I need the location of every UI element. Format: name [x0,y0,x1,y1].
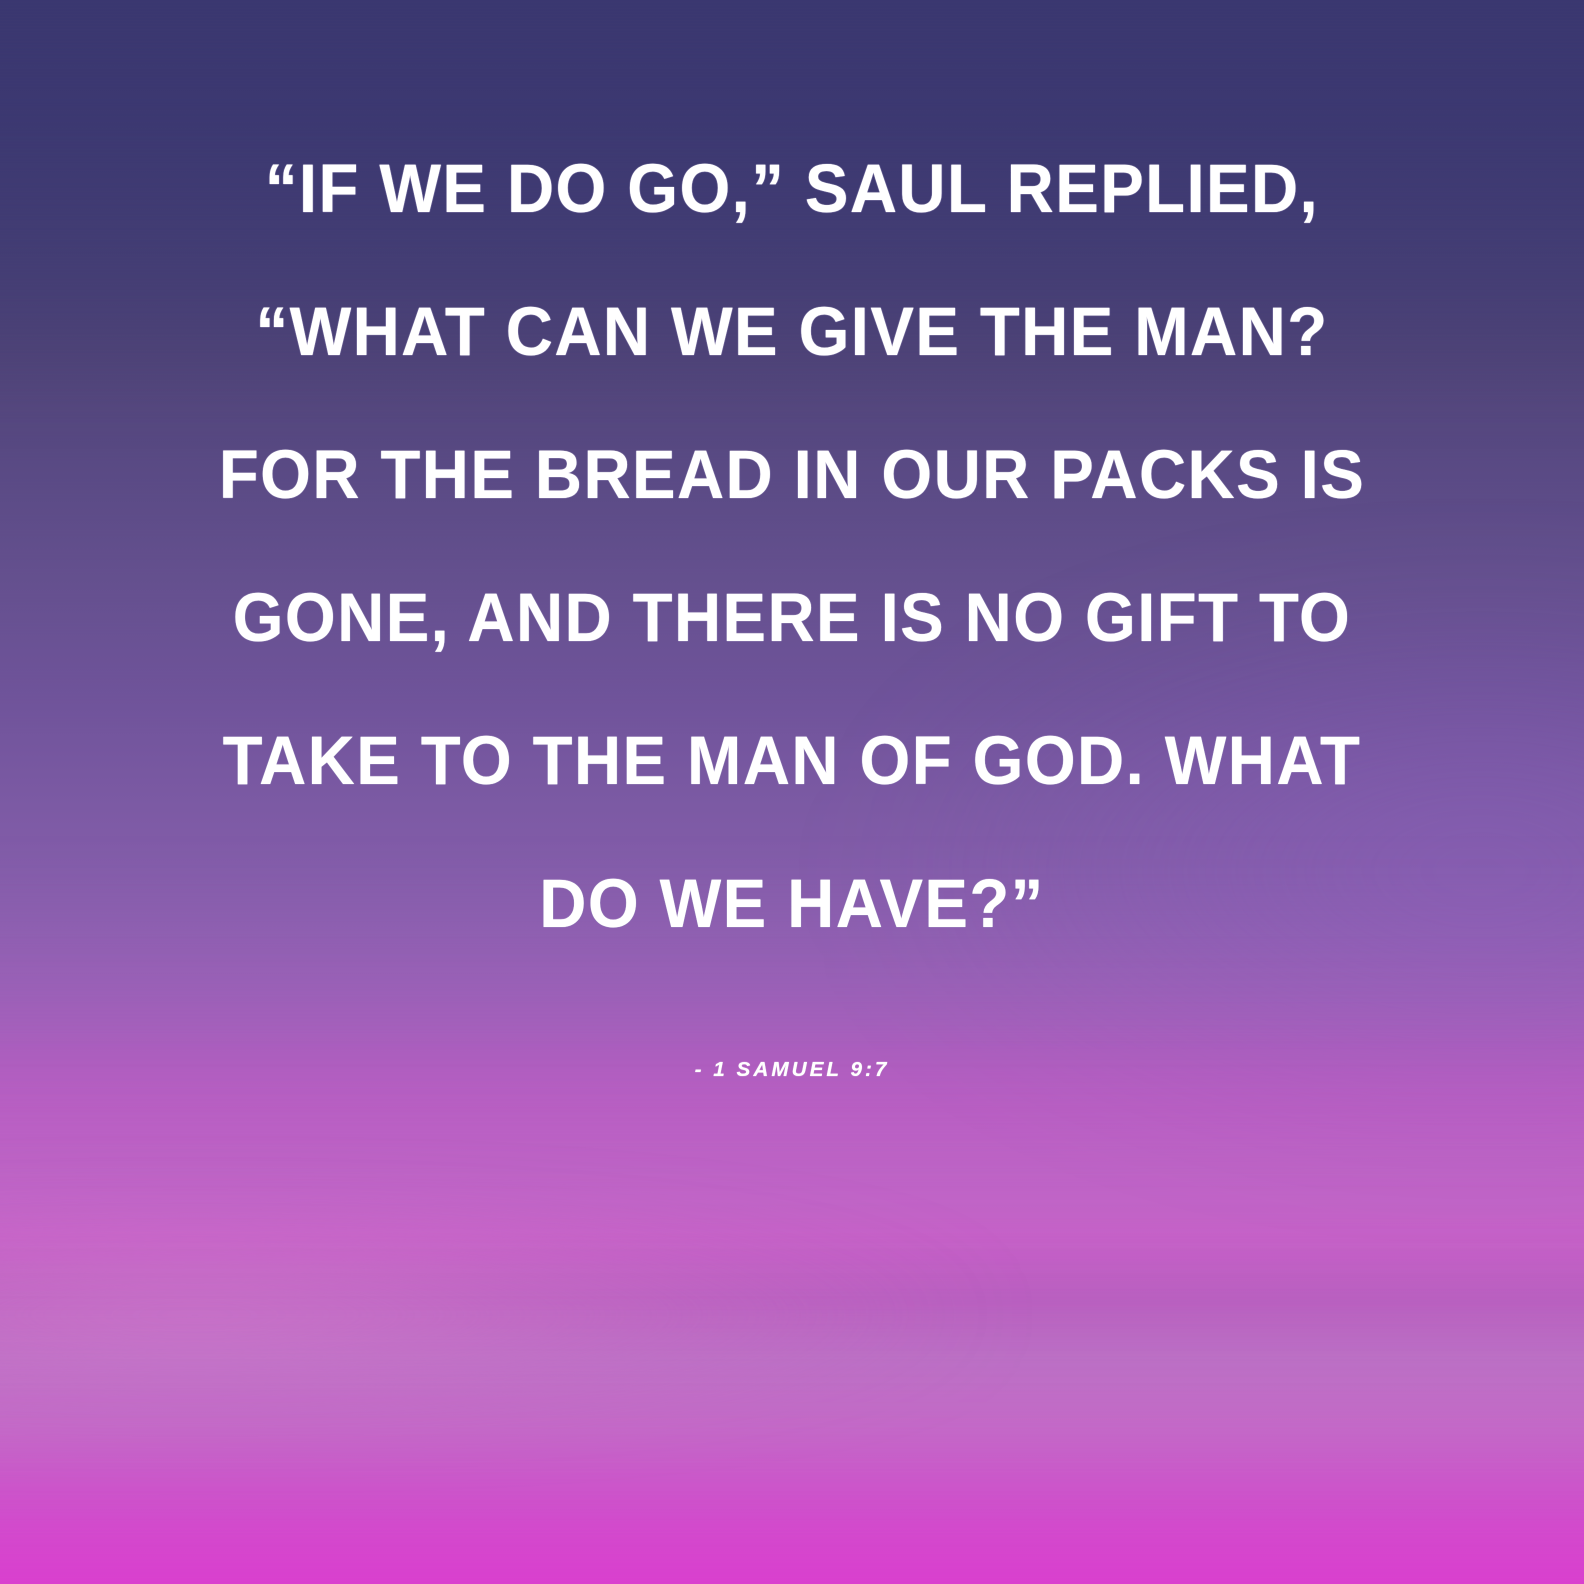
verse-image-canvas: “IF WE DO GO,” SAUL REPLIED, “WHAT CAN W… [0,0,1584,1584]
verse-attribution: - 1 SAMUEL 9:7 [0,1024,1584,1116]
verse-text-block: “IF WE DO GO,” SAUL REPLIED, “WHAT CAN W… [0,118,1584,976]
verse-line-4: GONE, AND THERE IS NO GIFT TO [104,547,1479,690]
verse-line-6: DO WE HAVE?” [104,833,1479,976]
verse-line-5: TAKE TO THE MAN OF GOD. WHAT [104,690,1479,833]
verse-line-3: FOR THE BREAD IN OUR PACKS IS [104,404,1479,547]
verse-line-2: “WHAT CAN WE GIVE THE MAN? [104,261,1479,404]
verse-line-1: “IF WE DO GO,” SAUL REPLIED, [104,118,1479,261]
